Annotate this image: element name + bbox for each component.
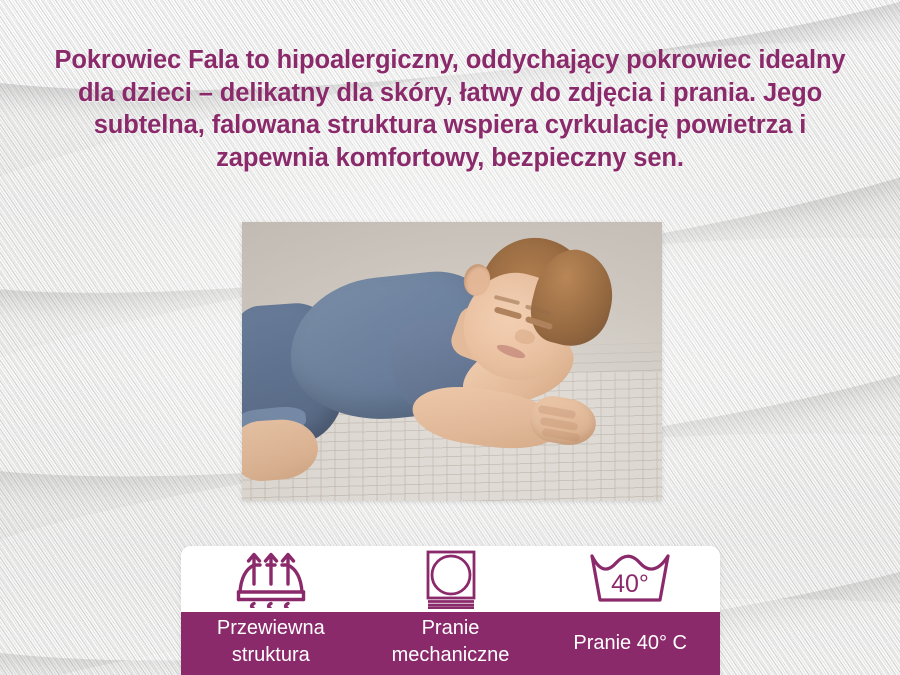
feature-icon-cell-2 bbox=[361, 546, 541, 612]
feature-label-3: Pranie 40° C bbox=[540, 612, 720, 675]
product-photo bbox=[242, 222, 662, 501]
headline-line-3: subtelna, falowana struktura wspiera cyr… bbox=[14, 109, 886, 142]
feature-label-1: Przewiewna struktura bbox=[181, 612, 361, 675]
feature-label-2: Pranie mechaniczne bbox=[361, 612, 541, 675]
photo-child-figure bbox=[242, 222, 662, 501]
wash-temperature-text: 40° bbox=[611, 570, 649, 598]
feature-label-2-line-2: mechaniczne bbox=[392, 642, 510, 669]
headline-line-1: Pokrowiec Fala to hipoalergiczny, oddych… bbox=[14, 44, 886, 77]
feature-icon-cell-3: 40° bbox=[540, 546, 720, 612]
promo-page: Pokrowiec Fala to hipoalergiczny, oddych… bbox=[0, 0, 900, 675]
feature-label-row: Przewiewna struktura Pranie mechaniczne … bbox=[181, 612, 720, 675]
headline-line-4: zapewnia komfortowy, bezpieczny sen. bbox=[14, 142, 886, 175]
washing-machine-icon bbox=[422, 549, 480, 609]
wash-tub-40-degrees-icon: 40° bbox=[588, 552, 672, 606]
feature-label-3-line-1: Pranie 40° C bbox=[573, 630, 687, 657]
feature-bar: 40° Przewiewna struktura Pranie mechanic… bbox=[181, 546, 720, 675]
feature-icon-cell-1 bbox=[181, 546, 361, 612]
feature-label-2-line-1: Pranie bbox=[392, 615, 510, 642]
feature-icon-row: 40° bbox=[181, 546, 720, 612]
breathable-mattress-arrows-icon bbox=[234, 550, 308, 608]
feature-label-1-line-2: struktura bbox=[217, 642, 325, 669]
headline-line-2: dla dzieci – delikatny dla skóry, łatwy … bbox=[14, 77, 886, 110]
page-title: Pokrowiec Fala to hipoalergiczny, oddych… bbox=[0, 44, 900, 174]
feature-label-1-line-1: Przewiewna bbox=[217, 615, 325, 642]
